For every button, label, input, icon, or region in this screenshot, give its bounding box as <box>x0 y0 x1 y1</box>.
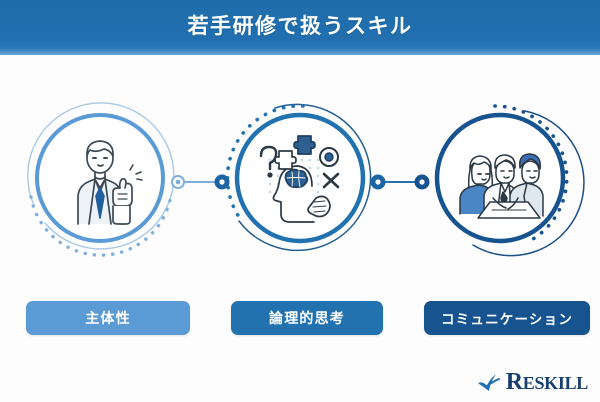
three-people-collaborating-icon <box>448 126 552 230</box>
skill-label-text: 論理的思考 <box>269 308 345 328</box>
head-with-brain-thinking-icon <box>248 126 352 230</box>
bird-swoosh-icon <box>476 370 502 394</box>
reskill-logo[interactable]: RESKILL <box>476 370 588 394</box>
skill-node-communication[interactable] <box>415 93 585 263</box>
slide-root: 若手研修で扱うスキル <box>0 0 600 402</box>
reskill-wordmark: RESKILL <box>506 370 588 394</box>
logo-initial: R <box>506 369 523 395</box>
businessman-thumbs-up-icon <box>48 126 152 230</box>
logo-rest: ESKILL <box>523 373 588 393</box>
header-bar: 若手研修で扱うスキル <box>0 0 600 55</box>
skill-label-communication[interactable]: コミュニケーション <box>424 301 590 335</box>
skill-label-ronriteki-shiko[interactable]: 論理的思考 <box>231 301 383 335</box>
skill-label-text: コミュニケーション <box>441 308 573 328</box>
connector-2 <box>370 174 430 190</box>
skill-node-shutaisei[interactable] <box>15 93 185 263</box>
skill-node-ronriteki-shiko[interactable] <box>215 93 385 263</box>
skill-label-shutaisei[interactable]: 主体性 <box>26 301 190 335</box>
skills-diagram <box>0 55 600 295</box>
connector-1 <box>170 174 230 190</box>
skill-label-text: 主体性 <box>85 308 131 328</box>
page-title: 若手研修で扱うスキル <box>188 16 413 37</box>
